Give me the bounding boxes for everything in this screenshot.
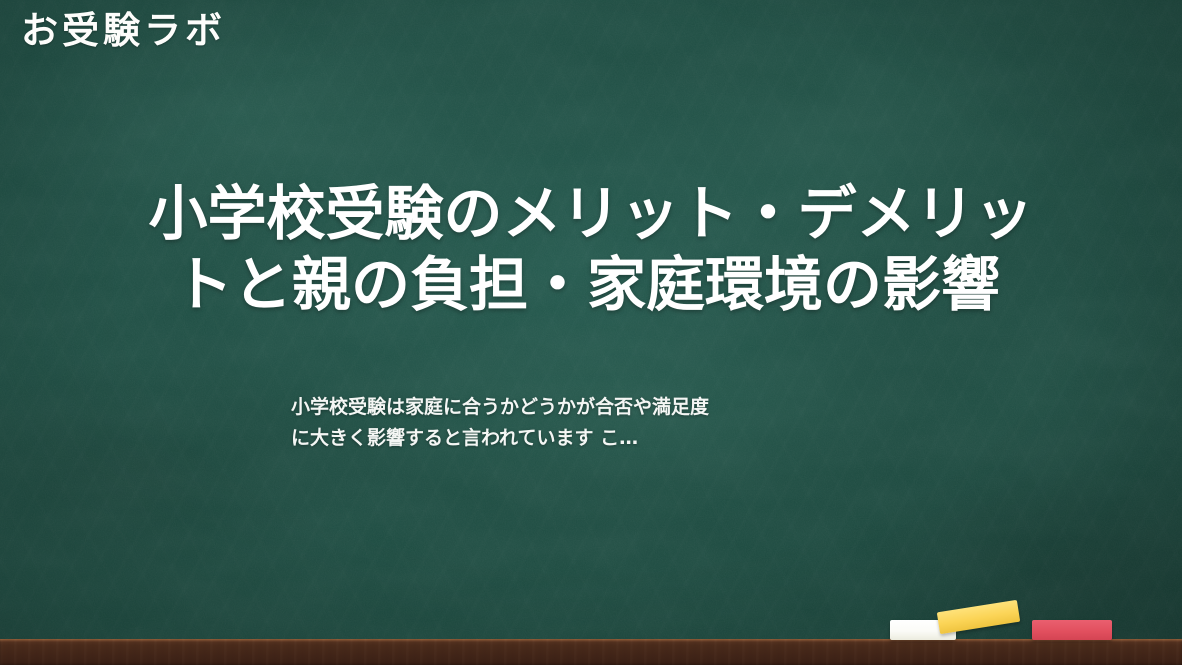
- title-line-2: トと親の負担・家庭環境の影響: [133, 249, 1041, 320]
- chalkboard-slide: お受験ラボ 小学校受験のメリット・デメリッ トと親の負担・家庭環境の影響 小学校…: [0, 0, 1182, 665]
- page-title: 小学校受験のメリット・デメリッ トと親の負担・家庭環境の影響: [141, 178, 1041, 320]
- chalkboard-vignette: [0, 0, 1182, 665]
- page-subtitle: 小学校受験は家庭に合うかどうかが合否や満足度 に大きく影響すると言われています …: [291, 392, 891, 454]
- subtitle-block: 小学校受験は家庭に合うかどうかが合否や満足度 に大きく影響すると言われています …: [0, 392, 1182, 454]
- title-line-1: 小学校受験のメリット・デメリッ: [141, 178, 1041, 249]
- red-chalk-icon: [1032, 620, 1112, 640]
- site-logo[interactable]: お受験ラボ: [21, 11, 226, 52]
- subtitle-line-1: 小学校受験は家庭に合うかどうかが合否や満足度: [291, 392, 891, 423]
- chalk-tray: [0, 639, 1182, 665]
- subtitle-line-2: に大きく影響すると言われています こ…: [291, 423, 891, 454]
- chalk-tray-woodgrain: [0, 639, 1182, 665]
- title-block: 小学校受験のメリット・デメリッ トと親の負担・家庭環境の影響: [0, 178, 1182, 320]
